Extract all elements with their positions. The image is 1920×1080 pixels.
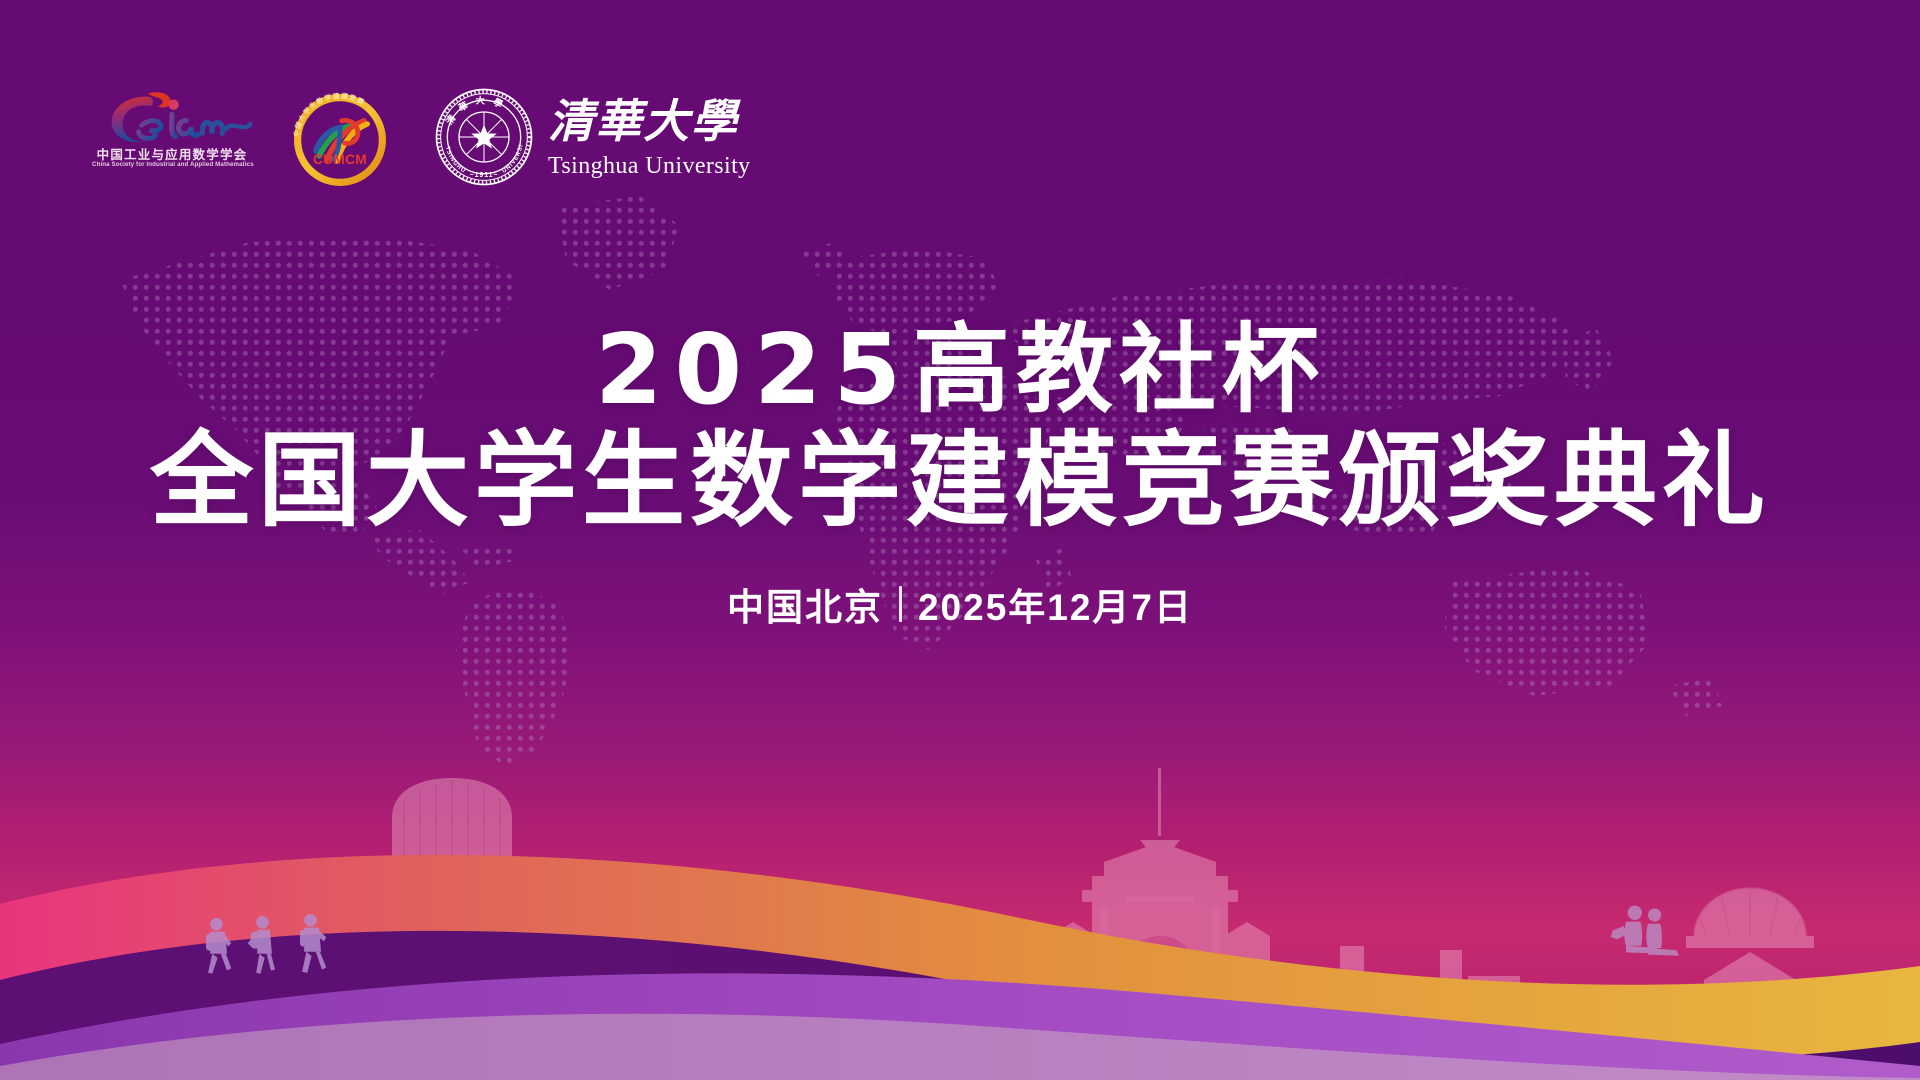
title-cup-name: 高教社杯 [913,315,1325,424]
tsinghua-seal-icon: 清華大學 TSINGHUA UNIVERSITY ~1911~ [434,87,534,187]
tsinghua-wordmark-en: Tsinghua University [548,153,751,180]
two-students-sitting [1611,906,1679,956]
hero-block: 2025高教社杯 全国大学生数学建模竞赛颁奖典礼 中国北京 2025年12月7日 [0,320,1920,631]
csiam-english-name: China Society for Industrial and Applied… [92,161,252,168]
tsinghua-wordmark-cjk: 清華大學 [548,94,748,150]
title-year: 2025 [595,313,913,426]
subtitle-divider [899,586,902,622]
cumcm-logo: CUMCM 中国大学生数学建模竞赛 [290,82,398,192]
title-line-2: 全国大学生数学建模竞赛颁奖典礼 [0,427,1920,535]
tsinghua-seal-year: ~1911~ [470,171,499,179]
campus-skyline-scene [0,650,1920,1080]
tsinghua-seal-cjk-text: 清華大學 [443,95,511,127]
logo-row: 中国工业与应用数学学会 China Society for Industrial… [92,82,751,192]
banner-canvas: 中国工业与应用数学学会 China Society for Industrial… [0,0,1920,1080]
event-location: 中国北京 [727,577,883,631]
title-line-1: 2025高教社杯 [0,320,1920,421]
cumcm-acronym-text: CUMCM [313,152,367,167]
tsinghua-logo: 清華大學 TSINGHUA UNIVERSITY ~1911~ 清華大學 Tsi… [434,82,751,192]
cumcm-emblem-icon: CUMCM 中国大学生数学建模竞赛 [292,92,388,188]
svg-text:清華大學: 清華大學 [548,96,742,147]
csiam-logo: 中国工业与应用数学学会 China Society for Industrial… [92,82,252,192]
csiam-mark-icon [92,84,252,146]
subtitle-block: 中国北京 2025年12月7日 [0,577,1920,631]
tsinghua-wordmark: 清華大學 Tsinghua University [548,94,751,180]
event-date: 2025年12月7日 [918,577,1193,631]
